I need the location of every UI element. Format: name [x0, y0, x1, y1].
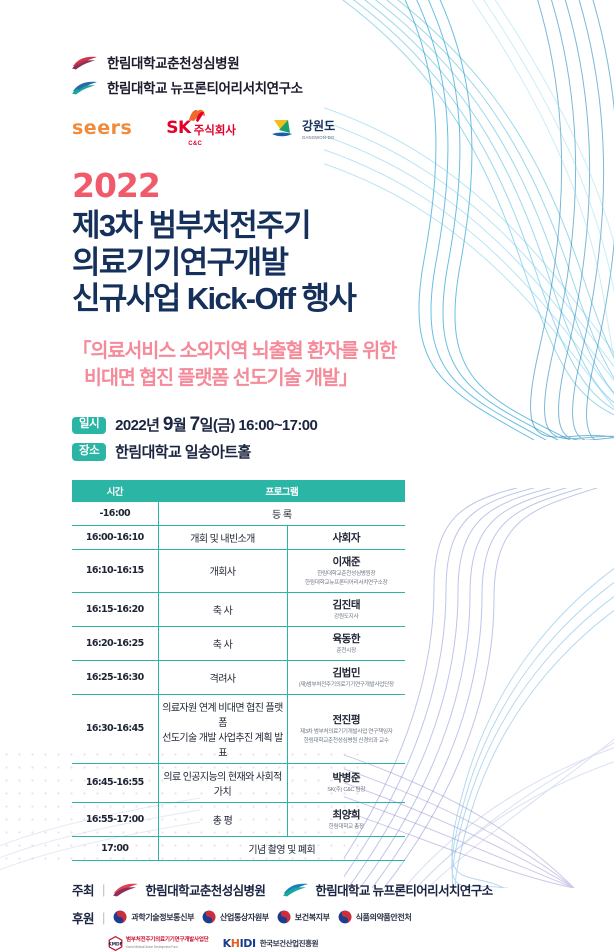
sponsor-name: 산업통상자원부 — [220, 912, 269, 923]
event-date-row: 일시 2022년 9월 7일(금) 16:00~17:00 — [72, 414, 614, 436]
seers-logo: seers — [72, 117, 132, 139]
speaker-name: 최양희 — [290, 807, 404, 822]
cell-speaker: 박병준SK(주) C&C 팀장 — [287, 763, 405, 802]
table-row: 16:45-16:55의료 인공지능의 현재와 사회적 가치박병준SK(주) C… — [72, 763, 405, 802]
title-line-3: 신규사업 Kick-Off 행사 — [72, 281, 614, 318]
cell-program: 격려사 — [158, 660, 287, 694]
cell-speaker: 김법민(재)범부처전주기의료기기연구개발사업단장 — [287, 660, 405, 694]
cell-program: 의료 인공지능의 현재와 사회적 가치 — [158, 763, 287, 802]
cell-speaker: 이재준한림대학교춘천성심병원장한림대학교뉴프론티어리서치연구소장 — [287, 550, 405, 592]
speaker-name: 박병준 — [290, 770, 404, 785]
footer-divider: | — [102, 882, 105, 897]
sponsor-item: 보건복지부 — [277, 910, 330, 924]
sponsor-name: 보건복지부 — [295, 912, 330, 923]
speaker-affiliation: 한림대학교뉴프론티어리서치연구소장 — [290, 579, 404, 587]
cell-time: 16:10-16:15 — [72, 550, 158, 592]
speaker-affiliation: 한림대학교춘천성심병원장 — [290, 570, 404, 578]
cell-time: 16:20-16:25 — [72, 626, 158, 660]
subtitle-line-1: 「의료서비스 소외지역 뇌출혈 환자를 위한 — [72, 340, 396, 362]
speaker-name: 사회자 — [290, 530, 404, 545]
cell-time: 16:30-16:45 — [72, 694, 158, 763]
footer-host-name: 한림대학교 뉴프론티어리서치연구소 — [315, 880, 492, 899]
cell-time: 16:00-16:10 — [72, 526, 158, 550]
event-date-text: 2022년 9월 7일(금) 16:00~17:00 — [115, 414, 317, 436]
speaker-affiliation: 춘천시장 — [290, 647, 404, 655]
cell-speaker: 김진태강원도지사 — [287, 592, 405, 626]
sk-cc-logo: SK 주식회사 C&C — [166, 118, 236, 138]
date-badge: 일시 — [72, 417, 106, 435]
table-row: 16:00-16:10개회 및 내빈소개사회자 — [72, 526, 405, 550]
cell-time: 16:15-16:20 — [72, 592, 158, 626]
speaker-affiliation: 한림대학교 총장 — [290, 823, 404, 831]
cell-program-full: 기념 촬영 및 폐회 — [158, 836, 405, 860]
place-badge: 장소 — [72, 443, 106, 461]
table-row: 16:25-16:30격려사김법민(재)범부처전주기의료기기연구개발사업단장 — [72, 660, 405, 694]
gangwon-text-block: 강원도 GANGWON-DO — [302, 117, 335, 140]
korea-government-emblem-icon — [113, 910, 127, 924]
date-month: 9 — [163, 414, 173, 435]
gangwon-name: 강원도 — [302, 119, 335, 133]
speaker-name: 이재준 — [290, 554, 404, 569]
hallym-swoosh-blue-icon — [283, 882, 309, 897]
speaker-name: 김법민 — [290, 665, 404, 680]
cell-time: 16:25-16:30 — [72, 660, 158, 694]
program-table-body: -16:00등 록16:00-16:10개회 및 내빈소개사회자16:10-16… — [72, 502, 405, 860]
table-row: 16:15-16:20축 사김진태강원도지사 — [72, 592, 405, 626]
sk-korean-name: 주식회사 — [194, 122, 236, 138]
header-time: 시간 — [72, 480, 158, 502]
kmdf-subname: Korea Medical Device Development Fund — [126, 945, 209, 949]
program-table-head: 시간 프로그램 — [72, 480, 405, 502]
cell-speaker: 육동한춘천시장 — [287, 626, 405, 660]
footer-host-org: 한림대학교춘천성심병원 — [113, 880, 265, 899]
footer-host-row: 주최 | 한림대학교춘천성심병원 한림대학교 뉴프론티어리서치연구소 — [72, 880, 614, 899]
speaker-name: 전진평 — [290, 712, 404, 727]
cell-speaker: 사회자 — [287, 526, 405, 550]
speaker-name: 육동한 — [290, 631, 404, 646]
speaker-affiliation: 강원도지사 — [290, 613, 404, 621]
sponsor-name: 식품의약품안전처 — [356, 912, 412, 923]
date-day: 7 — [190, 414, 200, 435]
cell-time: -16:00 — [72, 502, 158, 526]
kmdf-name: 범부처전주기의료기기연구개발사업단 — [126, 937, 209, 943]
cell-program: 개회사 — [158, 550, 287, 592]
cell-speaker: 전진평제3차 범부처의료기기개발사업 연구책임자한림대학교춘천성심병원 신경외과… — [287, 694, 405, 763]
event-place-text: 한림대학교 일송아트홀 — [115, 441, 251, 462]
date-time: 16:00~17:00 — [238, 417, 317, 434]
cell-program: 축 사 — [158, 626, 287, 660]
khidi-name: 한국보건산업진흥원 — [260, 938, 319, 949]
host-name: 한림대학교춘천성심병원 — [107, 52, 239, 72]
page-title: 제3차 범부처전주기 의료기기연구개발 신규사업 Kick-Off 행사 — [72, 208, 614, 318]
title-line-1: 제3차 범부처전주기 — [72, 208, 614, 245]
cell-program-full: 등 록 — [158, 502, 405, 526]
korea-government-emblem-icon — [202, 910, 216, 924]
table-row: -16:00등 록 — [72, 502, 405, 526]
gangwon-subname: GANGWON-DO — [302, 135, 335, 140]
table-header-row: 시간 프로그램 — [72, 480, 405, 502]
table-row: 16:55-17:00총 평최양희한림대학교 총장 — [72, 802, 405, 836]
footer: 주최 | 한림대학교춘천성심병원 한림대학교 뉴프론티어리서치연구소 후원 | … — [72, 880, 614, 951]
cell-program: 축 사 — [158, 592, 287, 626]
sponsor-item: 과학기술정보통신부 — [113, 910, 194, 924]
table-row: 16:30-16:45의료자원 연계 비대면 협진 플랫폼선도기술 개발 사업추… — [72, 694, 405, 763]
host-logos: 한림대학교춘천성심병원 한림대학교 뉴프론티어리서치연구소 — [72, 0, 614, 97]
cell-speaker: 최양희한림대학교 총장 — [287, 802, 405, 836]
subtitle-line-2: 비대면 협진 플랫폼 선도기술 개발」 — [72, 365, 614, 392]
kmdf-logo: KMDF 범부처전주기의료기기연구개발사업단 Korea Medical Dev… — [108, 936, 209, 951]
table-row: 16:10-16:15개회사이재준한림대학교춘천성심병원장한림대학교뉴프론티어리… — [72, 550, 405, 592]
khidi-logo: KHIDI 한국보건산업진흥원 — [223, 937, 319, 950]
footer-divider: | — [102, 910, 105, 925]
kmdf-hexagon-icon: KMDF — [108, 936, 123, 951]
speaker-affiliation: (재)범부처전주기의료기기연구개발사업단장 — [290, 681, 404, 689]
cell-time: 16:45-16:55 — [72, 763, 158, 802]
table-row: 17:00기념 촬영 및 폐회 — [72, 836, 405, 860]
hallym-swoosh-blue-icon — [72, 80, 98, 95]
kmdf-text-block: 범부처전주기의료기기연구개발사업단 Korea Medical Device D… — [126, 937, 209, 948]
footer-sponsor-row: 후원 | 과학기술정보통신부산업통상자원부보건복지부식품의약품안전처 — [72, 908, 614, 927]
host-row: 한림대학교 뉴프론티어리서치연구소 — [72, 77, 614, 97]
bottom-logos: KMDF 범부처전주기의료기기연구개발사업단 Korea Medical Dev… — [72, 936, 614, 951]
date-month-unit: 월 — [173, 417, 190, 434]
event-year: 2022 — [72, 169, 614, 202]
cell-program: 의료자원 연계 비대면 협진 플랫폼선도기술 개발 사업추진 계획 발표 — [158, 694, 287, 763]
footer-sponsor-label: 후원 — [72, 908, 94, 927]
cell-time: 17:00 — [72, 836, 158, 860]
host-row: 한림대학교춘천성심병원 — [72, 52, 614, 72]
korea-government-emblem-icon — [338, 910, 352, 924]
table-row: 16:20-16:25축 사육동한춘천시장 — [72, 626, 405, 660]
speaker-affiliation: 제3차 범부처의료기기개발사업 연구책임자 — [290, 728, 404, 736]
title-line-2: 의료기기연구개발 — [72, 245, 614, 282]
date-year: 2022년 — [115, 417, 163, 434]
hallym-swoosh-red-icon — [72, 55, 98, 70]
korea-government-emblem-icon — [277, 910, 291, 924]
sponsor-list: 과학기술정보통신부산업통상자원부보건복지부식품의약품안전처 — [113, 910, 419, 924]
project-subtitle: 「의료서비스 소외지역 뇌출혈 환자를 위한 비대면 협진 플랫폼 선도기술 개… — [72, 338, 614, 393]
speaker-affiliation: 한림대학교춘천성심병원 신경외과 교수 — [290, 737, 404, 745]
program-table: 시간 프로그램 -16:00등 록16:00-16:10개회 및 내빈소개사회자… — [72, 480, 405, 860]
cell-program: 총 평 — [158, 802, 287, 836]
footer-host-name: 한림대학교춘천성심병원 — [145, 880, 265, 899]
host-name: 한림대학교 뉴프론티어리서치연구소 — [107, 77, 303, 97]
cell-program: 개회 및 내빈소개 — [158, 526, 287, 550]
sk-cc-sub: C&C — [188, 141, 202, 147]
date-day-unit: 일(금) — [200, 417, 239, 434]
sponsor-name: 과학기술정보통신부 — [131, 912, 194, 923]
footer-host-org: 한림대학교 뉴프론티어리서치연구소 — [283, 880, 492, 899]
svg-text:KMDF: KMDF — [108, 941, 122, 947]
speaker-name: 김진태 — [290, 597, 404, 612]
gangwon-emblem-icon — [270, 116, 296, 140]
sponsor-item: 산업통상자원부 — [202, 910, 269, 924]
event-meta: 일시 2022년 9월 7일(금) 16:00~17:00 장소 한림대학교 일… — [72, 414, 614, 462]
header-program: 프로그램 — [158, 480, 405, 502]
sk-butterfly-icon — [187, 108, 207, 122]
sponsor-item: 식품의약품안전처 — [338, 910, 412, 924]
hallym-swoosh-red-icon — [113, 882, 139, 897]
event-place-row: 장소 한림대학교 일송아트홀 — [72, 441, 614, 462]
khidi-mark: KHIDI — [223, 937, 256, 950]
partner-logos: seers SK 주식회사 C&C 강원도 GANGWON-DO — [72, 113, 614, 143]
gangwon-logo: 강원도 GANGWON-DO — [270, 116, 335, 140]
speaker-affiliation: SK(주) C&C 팀장 — [290, 786, 404, 794]
footer-host-label: 주최 — [72, 880, 94, 899]
cell-time: 16:55-17:00 — [72, 802, 158, 836]
